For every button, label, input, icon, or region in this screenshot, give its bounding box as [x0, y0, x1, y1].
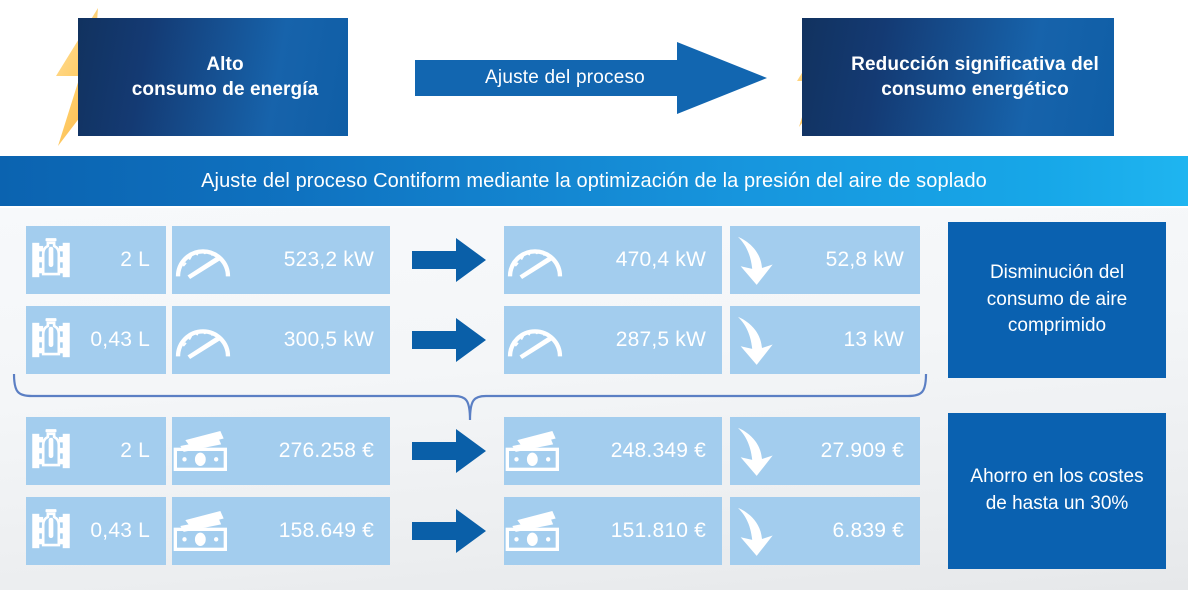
gauge-icon — [504, 239, 566, 281]
right-arrow-icon — [412, 429, 486, 473]
air-consumption-callout-text: Disminución del consumo de aire comprimi… — [962, 260, 1152, 341]
reduction-line2: consumo energético — [851, 77, 1099, 102]
cost-savings-callout-text: Ahorro en los costes de hasta un 30% — [962, 464, 1152, 518]
after-value: 248.349 € — [611, 439, 722, 463]
right-arrow-icon — [412, 238, 486, 282]
delta-value: 13 kW — [843, 328, 920, 352]
reduction-line1: Reducción significativa del — [851, 52, 1099, 77]
before-value-cell: 300,5 kW — [172, 306, 390, 374]
mold-cell: 0,43 L — [26, 497, 166, 565]
curved-down-arrow-icon — [730, 505, 778, 557]
section-banner: Ajuste del proceso Contiform mediante la… — [0, 156, 1188, 206]
after-value: 287,5 kW — [616, 328, 722, 352]
mold-volume-value: 2 L — [120, 248, 166, 272]
delta-value-cell: 13 kW — [730, 306, 920, 374]
before-value-cell: 523,2 kW — [172, 226, 390, 294]
delta-value: 6.839 € — [833, 519, 920, 543]
delta-value: 52,8 kW — [826, 248, 920, 272]
mold-cell: 2 L — [26, 417, 166, 485]
cost-savings-callout: Ahorro en los costes de hasta un 30% — [948, 413, 1166, 569]
delta-value-cell: 6.839 € — [730, 497, 920, 565]
curved-down-arrow-icon — [730, 425, 778, 477]
mold-cell: 2 L — [26, 226, 166, 294]
after-value-cell: 287,5 kW — [504, 306, 722, 374]
mold-volume-value: 0,43 L — [90, 519, 166, 543]
banknote-icon — [504, 429, 564, 473]
delta-value-cell: 52,8 kW — [730, 226, 920, 294]
delta-value-cell: 27.909 € — [730, 417, 920, 485]
bottle-mold-icon — [26, 426, 76, 476]
after-value-cell: 151.810 € — [504, 497, 722, 565]
bottle-mold-icon — [26, 506, 76, 556]
after-value: 151.810 € — [611, 519, 722, 543]
results-panel: 2 L 523,2 kW — [0, 208, 1188, 590]
before-value: 276.258 € — [279, 439, 390, 463]
right-arrow-icon — [412, 509, 486, 553]
high-energy-line1: Alto — [132, 52, 319, 77]
before-value: 300,5 kW — [284, 328, 390, 352]
results-grid: 2 L 523,2 kW — [0, 208, 938, 590]
after-value-cell: 470,4 kW — [504, 226, 722, 294]
mold-volume-value: 2 L — [120, 439, 166, 463]
mold-volume-value: 0,43 L — [90, 328, 166, 352]
process-adjustment-label: Ajuste del proceso — [415, 42, 715, 114]
air-consumption-callout: Disminución del consumo de aire comprimi… — [948, 222, 1166, 378]
delta-value: 27.909 € — [821, 439, 920, 463]
gauge-icon — [172, 239, 234, 281]
gauge-icon — [172, 319, 234, 361]
high-energy-line2: consumo de energía — [132, 77, 319, 102]
high-energy-box: Alto consumo de energía — [78, 18, 348, 136]
mold-cell: 0,43 L — [26, 306, 166, 374]
curved-down-arrow-icon — [730, 234, 778, 286]
bottle-mold-icon — [26, 315, 76, 365]
before-value-cell: 158.649 € — [172, 497, 390, 565]
after-value: 470,4 kW — [616, 248, 722, 272]
before-value: 158.649 € — [279, 519, 390, 543]
curved-down-arrow-icon — [730, 314, 778, 366]
banknote-icon — [172, 509, 232, 553]
gauge-icon — [504, 319, 566, 361]
before-value-cell: 276.258 € — [172, 417, 390, 485]
top-flow-row: Alto consumo de energía Ajuste del proce… — [0, 0, 1188, 152]
grouping-brace — [10, 374, 930, 422]
banknote-icon — [172, 429, 232, 473]
significant-reduction-box: Reducción significativa del consumo ener… — [802, 18, 1114, 136]
banknote-icon — [504, 509, 564, 553]
after-value-cell: 248.349 € — [504, 417, 722, 485]
before-value: 523,2 kW — [284, 248, 390, 272]
banner-title: Ajuste del proceso Contiform mediante la… — [201, 170, 987, 193]
bottle-mold-icon — [26, 235, 76, 285]
right-arrow-icon — [412, 318, 486, 362]
